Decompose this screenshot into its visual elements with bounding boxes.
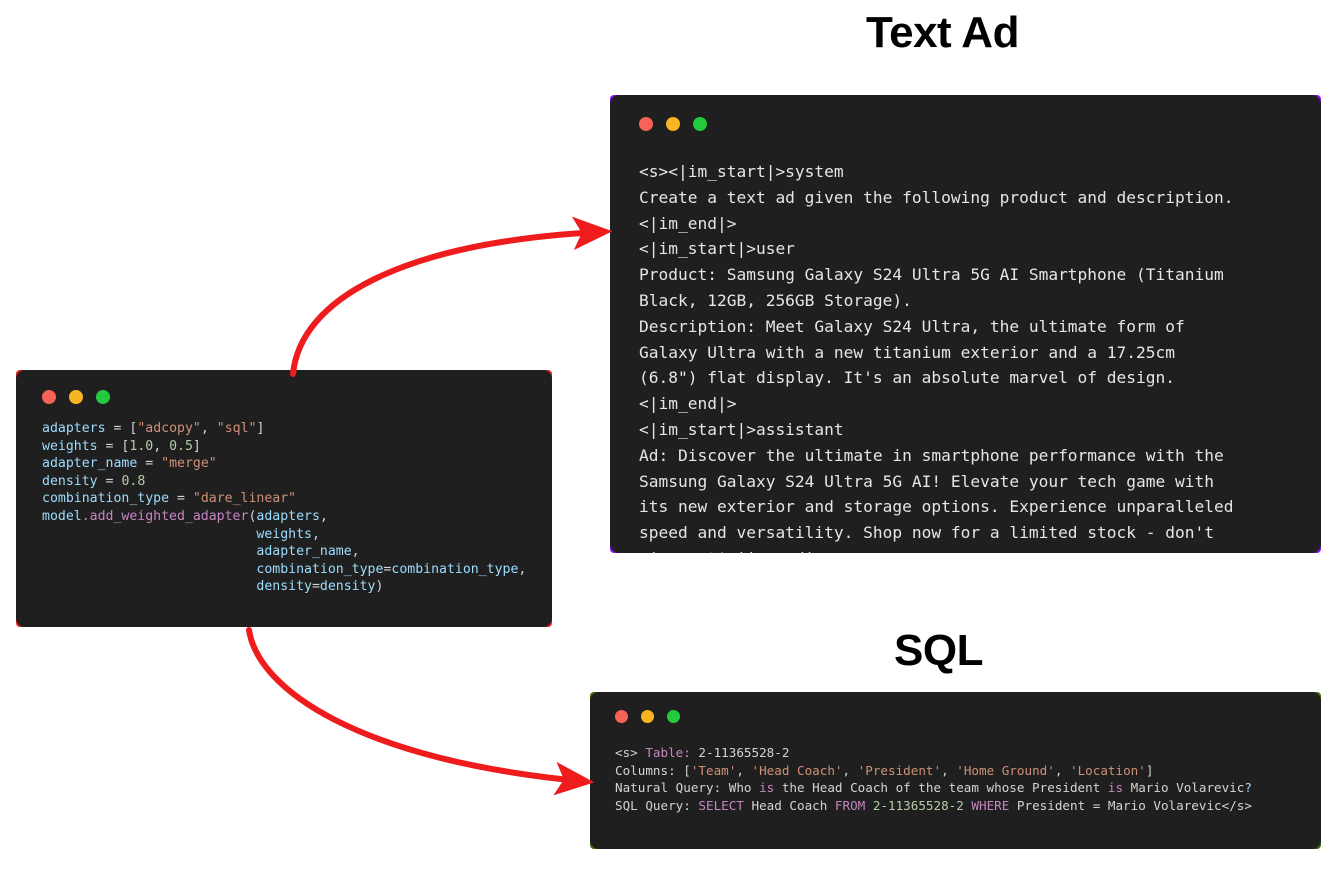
arrow-code-to-sql [249, 630, 580, 781]
sql-nlq-label: Natural Query: [615, 780, 729, 795]
sql-bos: <s> [615, 745, 645, 760]
arrow-code-to-textad [293, 232, 598, 374]
sql-keyword-select: SELECT [698, 798, 744, 813]
traffic-lights [639, 117, 707, 131]
textad-terminal-body: <s><|im_start|>system Create a text ad g… [610, 95, 1321, 553]
sql-nlq-kw1: is [759, 780, 774, 795]
text-ad-window: <s><|im_start|>system Create a text ad g… [610, 95, 1321, 553]
sql-keyword-from: FROM [835, 798, 865, 813]
text-ad-title: Text Ad [866, 8, 1019, 58]
sql-column-name: 'Location' [1070, 763, 1146, 778]
python-code-block: adapters = ["adcopy", "sql"] weights = [… [42, 420, 526, 596]
sql-column-separator: , [941, 763, 956, 778]
close-dot[interactable] [615, 710, 628, 723]
sql-column-separator: , [736, 763, 751, 778]
sql-from-table: 2-11365528-2 [865, 798, 971, 813]
sql-columns-list: 'Team', 'Head Coach', 'President', 'Home… [691, 763, 1146, 778]
sql-conversation: <s> Table: 2-11365528-2 Columns: ['Team'… [615, 744, 1252, 814]
minimize-dot[interactable] [641, 710, 654, 723]
sql-nlq-b: the Head Coach of the team whose Preside… [774, 780, 1108, 795]
minimize-dot[interactable] [666, 117, 680, 131]
sql-nlq-kw2: is [1108, 780, 1123, 795]
close-dot[interactable] [42, 390, 56, 404]
text-ad-conversation: <s><|im_start|>system Create a text ad g… [639, 159, 1234, 553]
maximize-dot[interactable] [96, 390, 110, 404]
sql-column-name: 'Team' [691, 763, 737, 778]
diagram-canvas: Text Ad SQL adapters = ["adcopy", "sql"]… [0, 0, 1327, 869]
sql-nlq-c: Mario Volarevic [1123, 780, 1244, 795]
sql-column-name: 'Home Ground' [956, 763, 1055, 778]
sql-columns-close: ] [1146, 763, 1154, 778]
maximize-dot[interactable] [667, 710, 680, 723]
sql-terminal-body: <s> Table: 2-11365528-2 Columns: ['Team'… [590, 692, 1321, 849]
sql-eos: </s> [1222, 798, 1252, 813]
sql-column-name: 'Head Coach' [752, 763, 843, 778]
sql-title: SQL [894, 626, 983, 676]
traffic-lights [615, 710, 680, 723]
sql-where-condition: President = Mario Volarevic [1009, 798, 1221, 813]
sql-nlq-qmark: ? [1244, 780, 1252, 795]
close-dot[interactable] [639, 117, 653, 131]
sql-table-value: 2-11365528-2 [698, 745, 789, 760]
sql-column-name: 'President' [858, 763, 941, 778]
sql-window: <s> Table: 2-11365528-2 Columns: ['Team'… [590, 692, 1321, 849]
merge-adapters-code-window: adapters = ["adcopy", "sql"] weights = [… [16, 370, 552, 627]
sql-query-label: SQL Query: [615, 798, 698, 813]
sql-columns-label: Columns: [ [615, 763, 691, 778]
sql-column-separator: , [843, 763, 858, 778]
sql-keyword-where: WHERE [971, 798, 1009, 813]
sql-select-cols: Head Coach [744, 798, 835, 813]
sql-column-separator: , [1055, 763, 1070, 778]
minimize-dot[interactable] [69, 390, 83, 404]
sql-nlq-a: Who [729, 780, 759, 795]
maximize-dot[interactable] [693, 117, 707, 131]
sql-table-label: Table: [645, 745, 698, 760]
traffic-lights [42, 390, 110, 404]
code-terminal-body: adapters = ["adcopy", "sql"] weights = [… [16, 370, 552, 627]
